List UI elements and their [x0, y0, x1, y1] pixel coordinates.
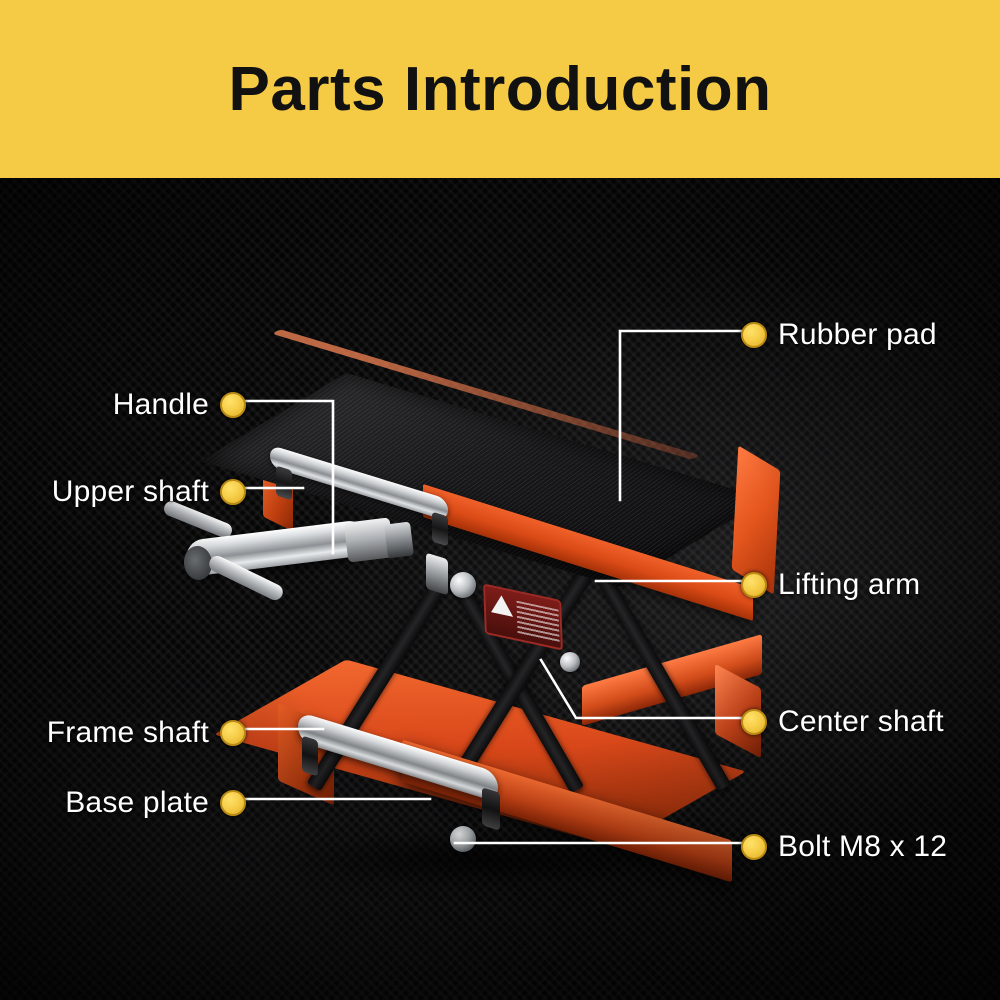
product-illustration — [150, 360, 850, 890]
frame-shaft-collar-right — [482, 787, 500, 831]
callout-label: Center shaft — [778, 705, 944, 739]
warning-triangle-icon — [490, 593, 513, 617]
callout-upper-shaft[interactable]: Upper shaft — [52, 475, 246, 509]
warning-sticker-text-lines — [516, 601, 559, 644]
callout-center-shaft[interactable]: Center shaft — [741, 705, 944, 739]
callout-frame-shaft[interactable]: Frame shaft — [47, 716, 246, 750]
bullet-icon — [220, 790, 246, 816]
infographic-page: Parts Introduction — [0, 0, 1000, 1000]
bullet-icon — [741, 834, 767, 860]
callout-label: Bolt M8 x 12 — [778, 830, 947, 864]
callout-label: Base plate — [65, 786, 209, 820]
platform-bolt — [450, 572, 476, 598]
header-banner: Parts Introduction — [0, 0, 1000, 178]
upper-shaft-collar-right — [432, 512, 448, 547]
callout-label: Upper shaft — [52, 475, 209, 509]
bullet-icon — [741, 709, 767, 735]
callout-label: Lifting arm — [778, 568, 920, 602]
callout-lifting-arm[interactable]: Lifting arm — [741, 568, 920, 602]
callout-bolt-m8[interactable]: Bolt M8 x 12 — [741, 830, 947, 864]
callout-rubber-pad[interactable]: Rubber pad — [741, 318, 937, 352]
platform-front-bearing — [426, 553, 448, 596]
page-title: Parts Introduction — [229, 54, 772, 125]
upper-shaft-collar-left — [276, 466, 292, 501]
callout-handle[interactable]: Handle — [113, 388, 246, 422]
bullet-icon — [741, 572, 767, 598]
bullet-icon — [220, 479, 246, 505]
callout-label: Handle — [113, 388, 209, 422]
bullet-icon — [741, 322, 767, 348]
callout-base-plate[interactable]: Base plate — [65, 786, 246, 820]
bullet-icon — [220, 720, 246, 746]
base-bolt-m8 — [450, 826, 476, 852]
frame-shaft-collar-left — [302, 736, 318, 777]
callout-label: Rubber pad — [778, 318, 937, 352]
bullet-icon — [220, 392, 246, 418]
callout-label: Frame shaft — [47, 716, 209, 750]
handle-coupler-collar — [384, 522, 414, 559]
center-shaft-bolt — [560, 652, 580, 672]
